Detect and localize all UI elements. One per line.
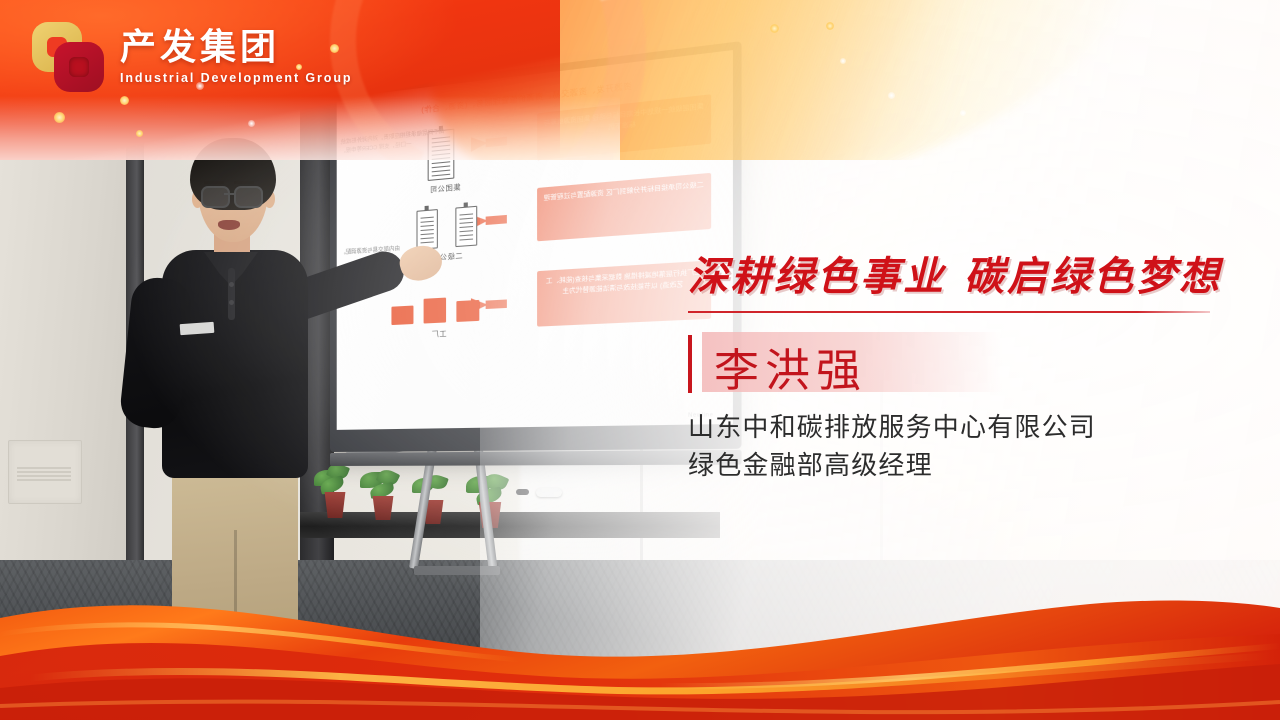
industrial-development-group-logo-icon (32, 22, 106, 92)
particle-dot (960, 110, 966, 116)
accent-bar (688, 335, 692, 393)
brand-name-cn: 产发集团 (120, 29, 352, 65)
header-fade (0, 96, 620, 160)
speaker-name-row: 李洪强 (688, 332, 1228, 394)
particle-dot (54, 112, 65, 123)
speaker-title-card: 资源开发、资源交易、资源价值管理服务。(资源、合作) 集团层级统一规划中长期目标… (0, 0, 1280, 720)
headline-right: 碳启绿色梦想 (964, 254, 1222, 299)
speaker-name: 李洪强 (714, 334, 867, 399)
particle-dot (826, 22, 834, 30)
particle-dot (136, 130, 143, 137)
particle-dot (120, 96, 129, 105)
particle-dot (888, 92, 895, 99)
ribbon-waves (0, 560, 1280, 720)
particle-dot (840, 58, 846, 64)
headline-left: 深耕绿色事业 (688, 254, 946, 299)
brand-logo[interactable]: 产发集团 Industrial Development Group (32, 22, 352, 92)
page-title: 深耕绿色事业碳启绿色梦想 (688, 244, 1228, 302)
affiliation-line-2: 绿色金融部高级经理 (688, 446, 1228, 484)
speaker-info-panel: 深耕绿色事业碳启绿色梦想 李洪强 山东中和碳排放服务中心有限公司 绿色金融部高级… (688, 244, 1228, 485)
speaker-affiliation: 山东中和碳排放服务中心有限公司 绿色金融部高级经理 (688, 408, 1228, 485)
affiliation-line-1: 山东中和碳排放服务中心有限公司 (688, 408, 1228, 446)
brand-logo-text: 产发集团 Industrial Development Group (120, 29, 352, 85)
title-divider (688, 311, 1210, 313)
brand-name-en: Industrial Development Group (120, 71, 352, 85)
particle-dot (770, 24, 779, 33)
bottom-ribbon-graphic (0, 560, 1280, 720)
particle-dot (248, 120, 255, 127)
